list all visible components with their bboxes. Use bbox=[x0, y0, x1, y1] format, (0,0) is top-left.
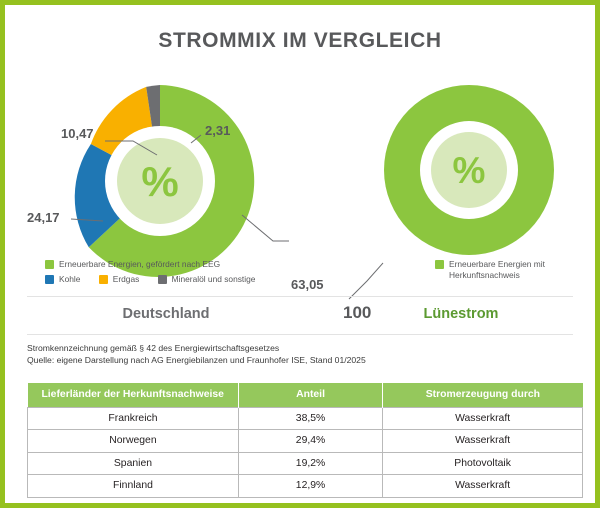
table-row: Finnland 12,9% Wasserkraft bbox=[28, 475, 583, 498]
table-header-country: Lieferländer der Herkunftsnachweise bbox=[28, 383, 239, 407]
legend-swatch-icon bbox=[158, 275, 167, 284]
table-header-share: Anteil bbox=[238, 383, 382, 407]
supplier-countries-table: Lieferländer der Herkunftsnachweise Ante… bbox=[27, 383, 583, 498]
legend-label: Erneuerbare Energien, gefördert nach EEG bbox=[59, 259, 220, 270]
source-note-line-2: Quelle: eigene Darstellung nach AG Energ… bbox=[27, 354, 366, 366]
charts-section: % 10,47 2,31 24,17 63,05 % bbox=[5, 63, 595, 295]
table-head: Lieferländer der Herkunftsnachweise Ante… bbox=[28, 383, 583, 407]
legend-item-erneuerbare[interactable]: Erneuerbare Energien, gefördert nach EEG bbox=[45, 259, 315, 270]
table-header-row: Lieferländer der Herkunftsnachweise Ante… bbox=[28, 383, 583, 407]
table-row: Frankreich 38,5% Wasserkraft bbox=[28, 407, 583, 430]
legend-label: Erneuerbare Energien mit Herkunftsnachwe… bbox=[449, 259, 595, 282]
table-body: Frankreich 38,5% Wasserkraft Norwegen 29… bbox=[28, 407, 583, 497]
cell-share: 38,5% bbox=[238, 407, 382, 430]
callout-value-erdgas: 10,47 bbox=[61, 126, 94, 141]
table-row: Spanien 19,2% Photovoltaik bbox=[28, 452, 583, 475]
legend-item-erdgas[interactable]: Erdgas bbox=[99, 274, 140, 285]
leader-kohle bbox=[71, 219, 103, 221]
legend-item-mineraloel[interactable]: Mineralöl und sonstige bbox=[158, 274, 256, 285]
legend-swatch-icon bbox=[99, 275, 108, 284]
divider-above-captions bbox=[27, 296, 573, 297]
legend-label: Erdgas bbox=[113, 274, 140, 285]
legend-item-kohle[interactable]: Kohle bbox=[45, 274, 80, 285]
legend-item-erneuerbare-hkn[interactable]: Erneuerbare Energien mit Herkunftsnachwe… bbox=[435, 259, 595, 282]
leader-erneuerbare bbox=[242, 215, 289, 241]
cell-share: 19,2% bbox=[238, 452, 382, 475]
cell-generation: Photovoltaik bbox=[383, 452, 583, 475]
cell-country: Frankreich bbox=[28, 407, 239, 430]
legend-deutschland: Erneuerbare Energien, gefördert nach EEG… bbox=[45, 259, 315, 290]
leader-mineraloel bbox=[191, 135, 201, 143]
cell-country: Finnland bbox=[28, 475, 239, 498]
callout-value-kohle: 24,17 bbox=[27, 210, 60, 225]
leader-erneuerbare-100 bbox=[349, 263, 383, 299]
cell-country: Spanien bbox=[28, 452, 239, 475]
cell-generation: Wasserkraft bbox=[383, 430, 583, 453]
infographic-page: STROMMIX IM VERGLEICH bbox=[0, 0, 600, 508]
source-note: Stromkennzeichnung gemäß § 42 des Energi… bbox=[27, 342, 366, 366]
callout-value-mineraloel: 2,31 bbox=[205, 123, 230, 138]
chart-caption-luenestrom: Lünestrom bbox=[327, 306, 595, 322]
cell-share: 29,4% bbox=[238, 430, 382, 453]
legend-label: Kohle bbox=[59, 274, 80, 285]
legend-swatch-icon bbox=[45, 275, 54, 284]
supplier-countries-table-wrapper: Lieferländer der Herkunftsnachweise Ante… bbox=[27, 383, 583, 498]
legend-label: Mineralöl und sonstige bbox=[172, 274, 256, 285]
cell-country: Norwegen bbox=[28, 430, 239, 453]
chart-caption-deutschland: Deutschland bbox=[5, 306, 327, 322]
divider-above-note bbox=[27, 334, 573, 335]
legend-swatch-icon bbox=[435, 260, 444, 269]
table-row: Norwegen 29,4% Wasserkraft bbox=[28, 430, 583, 453]
source-note-line-1: Stromkennzeichnung gemäß § 42 des Energi… bbox=[27, 342, 366, 354]
cell-generation: Wasserkraft bbox=[383, 407, 583, 430]
table-header-generation: Stromerzeugung durch bbox=[383, 383, 583, 407]
cell-share: 12,9% bbox=[238, 475, 382, 498]
cell-generation: Wasserkraft bbox=[383, 475, 583, 498]
legend-luenestrom: Erneuerbare Energien mit Herkunftsnachwe… bbox=[435, 259, 595, 286]
infographic-sheet: STROMMIX IM VERGLEICH bbox=[5, 5, 595, 503]
legend-swatch-icon bbox=[45, 260, 54, 269]
leader-erdgas bbox=[105, 141, 157, 155]
page-title: STROMMIX IM VERGLEICH bbox=[5, 29, 595, 53]
